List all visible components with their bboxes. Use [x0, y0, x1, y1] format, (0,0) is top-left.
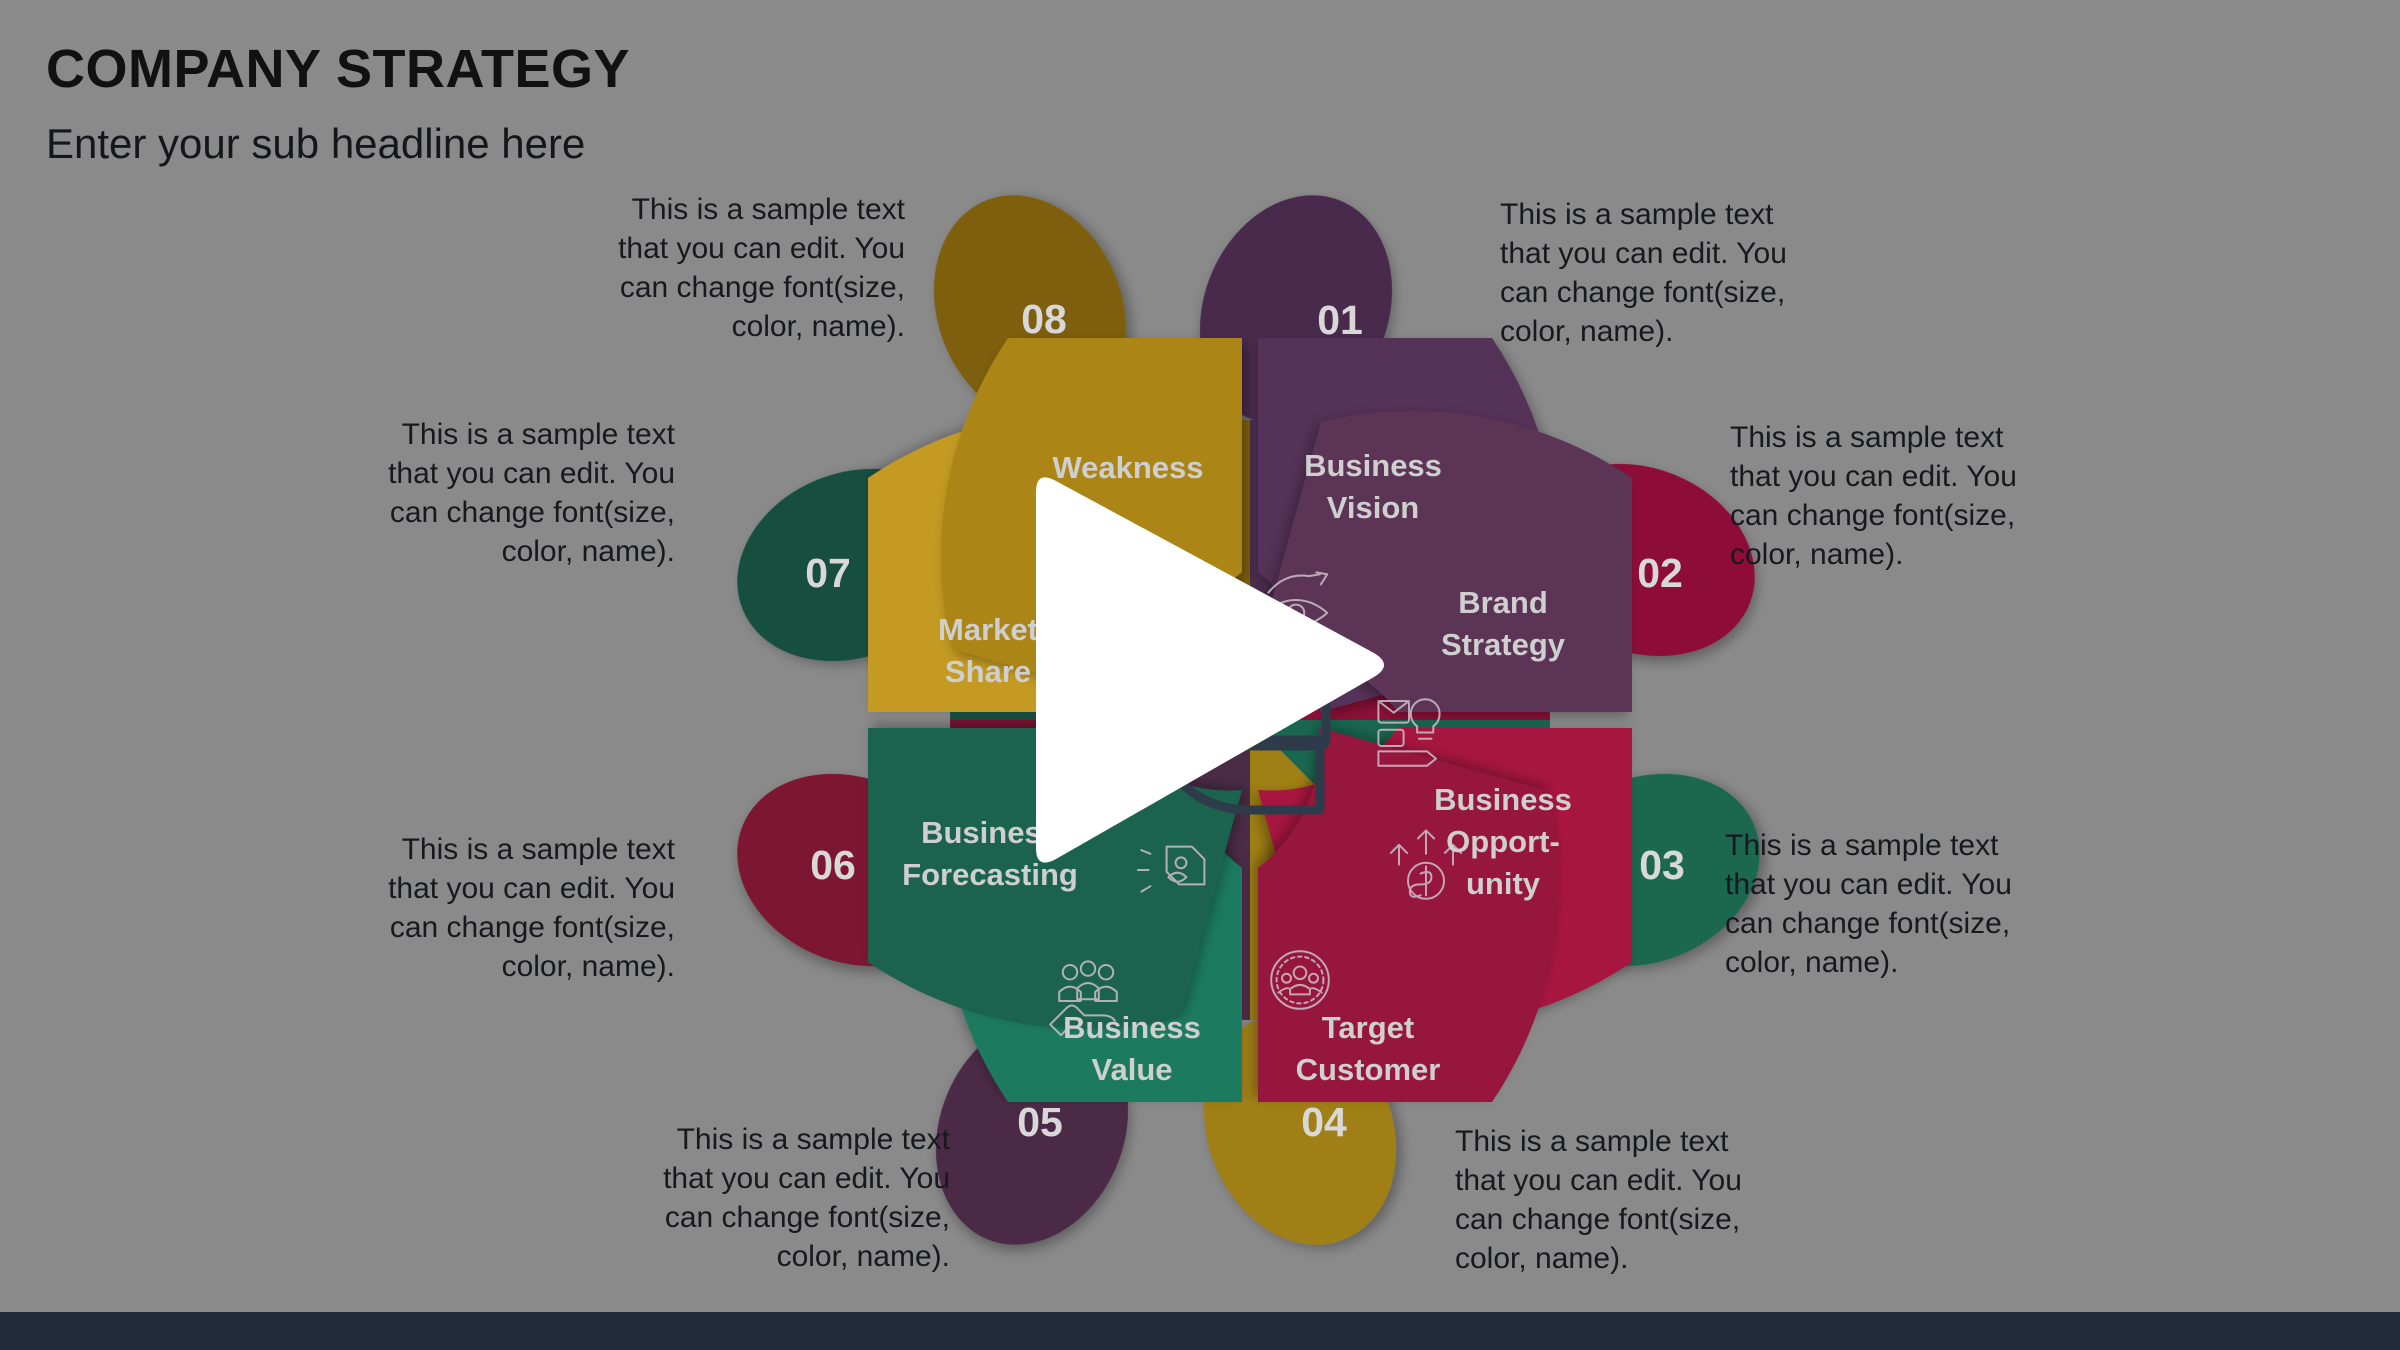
- petal-label-02-line-1: Strategy: [1441, 627, 1566, 662]
- petal-label-03-line-0: Business: [1434, 782, 1572, 817]
- petal-number-06: 06: [810, 842, 856, 888]
- description-04: This is a sample text that you can edit.…: [1455, 1122, 1785, 1278]
- play-triangle-icon[interactable]: [1036, 477, 1384, 862]
- video-play-button[interactable]: [1022, 470, 1392, 870]
- description-02: This is a sample text that you can edit.…: [1730, 418, 2060, 574]
- petal-number-02: 02: [1637, 550, 1683, 596]
- petal-label-05-line-0: Business: [1063, 1010, 1201, 1045]
- page-title: COMPANY STRATEGY: [46, 38, 630, 100]
- description-01: This is a sample text that you can edit.…: [1500, 195, 1830, 351]
- petal-number-03: 03: [1639, 842, 1685, 888]
- bottom-bar: [0, 1312, 2400, 1350]
- description-03: This is a sample text that you can edit.…: [1725, 826, 2055, 982]
- petal-number-07: 07: [805, 550, 851, 596]
- description-08: This is a sample text that you can edit.…: [575, 190, 905, 346]
- petal-label-03-line-2: unity: [1466, 866, 1541, 901]
- petal-label-07-line-1: Share: [945, 654, 1031, 689]
- petal-label-04-line-1: Customer: [1296, 1052, 1441, 1087]
- petal-label-05-line-1: Value: [1092, 1052, 1173, 1087]
- petal-number-08: 08: [1021, 296, 1067, 342]
- petal-label-03-line-1: Opport-: [1446, 824, 1560, 859]
- petal-number-05: 05: [1017, 1099, 1063, 1145]
- page-subtitle: Enter your sub headline here: [46, 120, 585, 168]
- petal-number-04: 04: [1301, 1099, 1347, 1145]
- description-06: This is a sample text that you can edit.…: [345, 830, 675, 986]
- description-05: This is a sample text that you can edit.…: [620, 1120, 950, 1276]
- petal-number-01: 01: [1317, 297, 1363, 343]
- petal-label-02-line-0: Brand: [1458, 585, 1548, 620]
- petal-label-04-line-0: Target: [1322, 1010, 1414, 1045]
- description-07: This is a sample text that you can edit.…: [345, 415, 675, 571]
